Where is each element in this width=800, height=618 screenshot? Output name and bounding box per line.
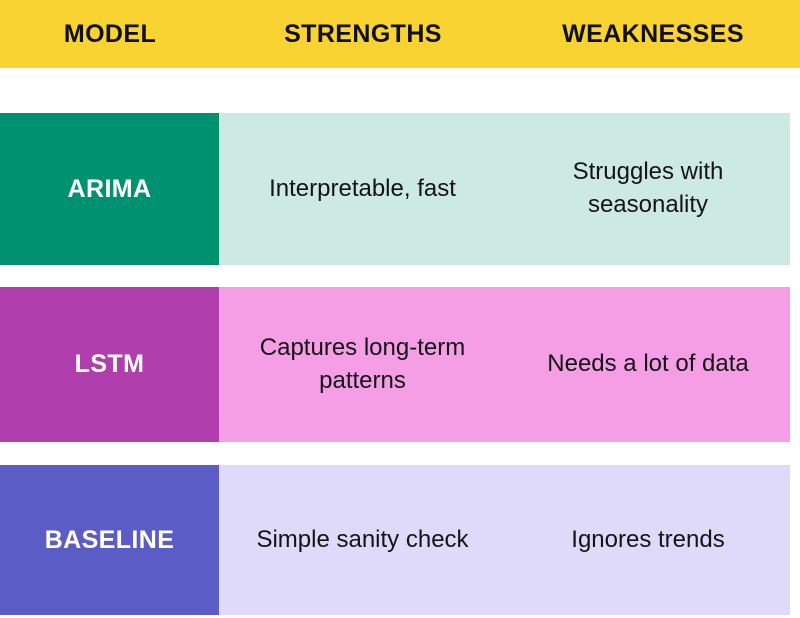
cell-strengths-baseline: Simple sanity check <box>219 465 506 615</box>
model-comparison-table: MODEL STRENGTHS WEAKNESSES ARIMA Interpr… <box>0 0 800 618</box>
column-header-weaknesses: WEAKNESSES <box>506 0 800 68</box>
model-label-arima: ARIMA <box>0 113 219 265</box>
row-details-baseline: Simple sanity check Ignores trends <box>219 465 790 615</box>
table-row: BASELINE Simple sanity check Ignores tre… <box>0 465 790 615</box>
row-details-arima: Interpretable, fast Struggles with seaso… <box>219 113 790 265</box>
cell-weaknesses-arima: Struggles with seasonality <box>506 113 790 265</box>
model-label-baseline: BASELINE <box>0 465 219 615</box>
table-header-row: MODEL STRENGTHS WEAKNESSES <box>0 0 800 68</box>
column-header-model: MODEL <box>0 0 220 68</box>
table-row: LSTM Captures long-term patterns Needs a… <box>0 287 790 442</box>
row-details-lstm: Captures long-term patterns Needs a lot … <box>219 287 790 442</box>
cell-strengths-lstm: Captures long-term patterns <box>219 287 506 442</box>
model-label-lstm: LSTM <box>0 287 219 442</box>
column-header-strengths: STRENGTHS <box>220 0 506 68</box>
cell-weaknesses-lstm: Needs a lot of data <box>506 287 790 442</box>
table-row: ARIMA Interpretable, fast Struggles with… <box>0 113 790 265</box>
cell-weaknesses-baseline: Ignores trends <box>506 465 790 615</box>
cell-strengths-arima: Interpretable, fast <box>219 113 506 265</box>
